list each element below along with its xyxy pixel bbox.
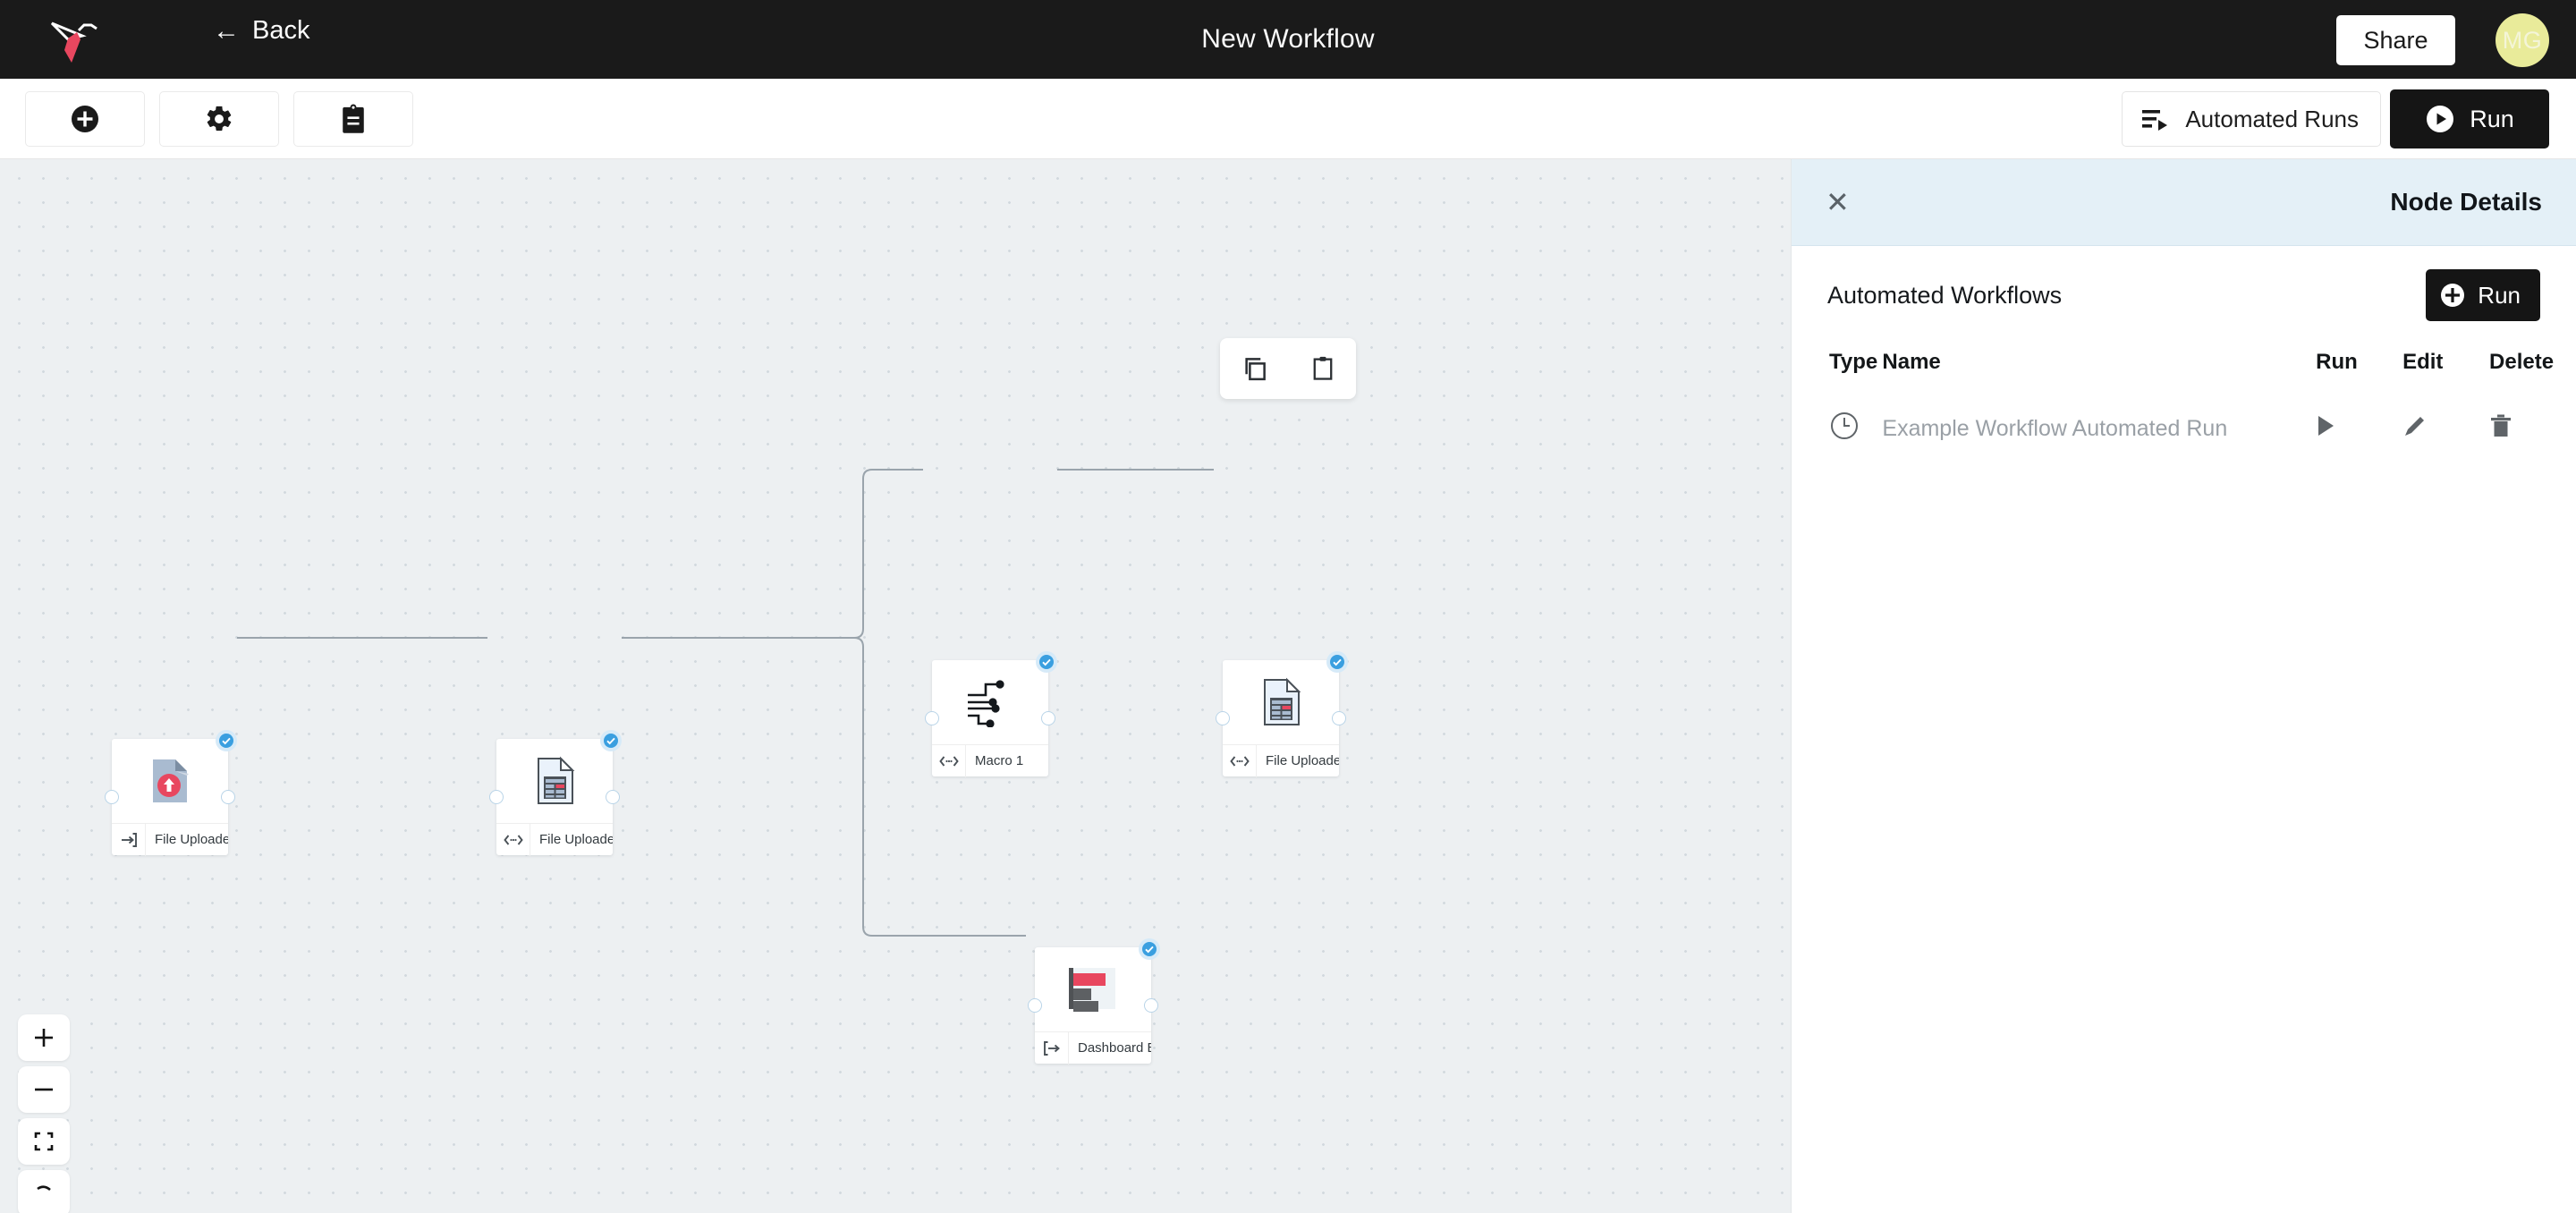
run-button[interactable]: Run <box>2390 89 2549 148</box>
row-delete-button[interactable] <box>2489 398 2576 460</box>
trash-icon <box>2489 413 2512 438</box>
node-output-port[interactable] <box>221 790 235 804</box>
connection-edges <box>0 159 1791 1213</box>
reset-icon <box>33 1183 55 1204</box>
fit-to-screen-button[interactable] <box>18 1118 70 1165</box>
copy-icon[interactable] <box>1241 355 1268 382</box>
node-label-text: File Uploader 1 <box>530 832 613 847</box>
minus-icon <box>32 1078 55 1101</box>
zoom-out-button[interactable] <box>18 1066 70 1113</box>
back-label: Back <box>252 16 309 46</box>
play-icon <box>2316 414 2335 437</box>
panel-title: Node Details <box>2390 188 2542 216</box>
node-status-badge <box>1036 651 1057 673</box>
node-label-text: Dashboard Builder 1 <box>1069 1040 1151 1056</box>
back-arrow-icon: ← <box>213 18 240 45</box>
settings-button[interactable] <box>159 91 279 147</box>
panel-section-header: Automated Workflows Run <box>1792 246 2576 344</box>
automated-workflows-table: Type Name Run Edit Delete Example Workfl <box>1792 344 2576 460</box>
node-label-text: File Uploader 1 (main macro ... <box>1257 753 1339 768</box>
clipboard-bar <box>1220 338 1356 399</box>
automated-runs-label: Automated Runs <box>2185 106 2359 133</box>
table-header-row: Type Name Run Edit Delete <box>1792 344 2576 398</box>
column-header-type: Type <box>1792 344 1882 398</box>
node-label-text: Macro 1 <box>966 753 1023 768</box>
bar-chart-icon <box>1067 966 1119 1013</box>
zoom-controls <box>18 1014 70 1213</box>
node-output-port[interactable] <box>1041 711 1055 725</box>
node-input-port[interactable] <box>1216 711 1230 725</box>
plus-circle-icon <box>70 104 100 134</box>
top-bar: ← Back New Workflow Share MG <box>0 0 2576 79</box>
node-label: File Uploader 1 <box>112 823 228 855</box>
workflow-canvas[interactable]: File Uploader 1 <box>0 159 1791 1213</box>
row-run-button[interactable] <box>2316 398 2402 460</box>
plus-icon <box>32 1026 55 1049</box>
node-input-port[interactable] <box>489 790 504 804</box>
node-label: File Uploader 1 (main macro ... <box>1223 744 1339 776</box>
macro-brackets-icon <box>932 745 966 777</box>
table-row[interactable]: Example Workflow Automated Run <box>1792 398 2576 460</box>
macro-brackets-icon <box>1223 745 1257 777</box>
share-label: Share <box>2363 27 2428 55</box>
gear-icon <box>204 104 234 134</box>
node-status-badge <box>600 730 622 751</box>
zoom-in-button[interactable] <box>18 1014 70 1061</box>
paste-icon[interactable] <box>1310 355 1335 382</box>
node-file-uploader-main-macro[interactable]: File Uploader 1 (main macro ... <box>1223 660 1339 776</box>
panel-header: ✕ Node Details <box>1792 159 2576 246</box>
row-edit-button[interactable] <box>2402 398 2489 460</box>
node-input-port[interactable] <box>1028 998 1042 1013</box>
macro-circuit-icon <box>964 677 1016 727</box>
avatar-initials: MG <box>2503 27 2543 55</box>
column-header-edit: Edit <box>2402 344 2489 398</box>
row-type-icon-cell <box>1792 398 1882 460</box>
close-icon[interactable]: ✕ <box>1826 188 1850 216</box>
node-macro-1[interactable]: Macro 1 <box>932 660 1048 776</box>
node-details-panel: ✕ Node Details Automated Workflows Run T… <box>1791 159 2576 1213</box>
output-arrow-icon <box>1035 1032 1069 1065</box>
node-icon-bar-chart <box>1035 947 1151 1031</box>
node-dashboard-builder-1[interactable]: Dashboard Builder 1 <box>1035 947 1151 1064</box>
clipboard-icon <box>339 104 368 134</box>
file-table-icon <box>531 756 578 806</box>
automated-runs-button[interactable]: Automated Runs <box>2122 91 2381 147</box>
plus-circle-icon <box>2438 281 2467 310</box>
node-output-port[interactable] <box>606 790 620 804</box>
row-name: Example Workflow Automated Run <box>1882 398 2316 460</box>
column-header-delete: Delete <box>2489 344 2576 398</box>
node-output-port[interactable] <box>1144 998 1158 1013</box>
add-node-button[interactable] <box>25 91 145 147</box>
node-output-port[interactable] <box>1332 711 1346 725</box>
node-file-uploader-1-b[interactable]: File Uploader 1 <box>496 739 613 855</box>
clock-icon <box>1829 411 1860 441</box>
node-file-uploader-1[interactable]: File Uploader 1 <box>112 739 228 855</box>
node-label: Macro 1 <box>932 744 1048 776</box>
node-icon-file-table <box>1223 660 1339 744</box>
page-title: New Workflow <box>0 0 2576 79</box>
node-label-text: File Uploader 1 <box>146 832 228 847</box>
node-label: File Uploader 1 <box>496 823 613 855</box>
share-button[interactable]: Share <box>2336 15 2455 65</box>
node-input-port[interactable] <box>105 790 119 804</box>
panel-run-label: Run <box>2478 282 2521 310</box>
node-status-badge <box>1326 651 1348 673</box>
clipboard-button[interactable] <box>293 91 413 147</box>
macro-brackets-icon <box>496 824 530 856</box>
column-header-run: Run <box>2316 344 2402 398</box>
play-circle-icon <box>2425 104 2455 134</box>
hummingbird-logo[interactable] <box>47 13 102 66</box>
list-play-icon <box>2140 106 2171 131</box>
node-status-badge <box>216 730 237 751</box>
column-header-name: Name <box>1882 344 2316 398</box>
toolbar: Automated Runs Run <box>0 79 2576 159</box>
reset-view-button[interactable] <box>18 1170 70 1213</box>
input-arrow-icon <box>112 824 146 856</box>
node-icon-macro <box>932 660 1048 744</box>
run-label: Run <box>2470 106 2514 133</box>
file-table-icon <box>1258 677 1304 727</box>
section-title: Automated Workflows <box>1827 282 2062 310</box>
node-input-port[interactable] <box>925 711 939 725</box>
node-label: Dashboard Builder 1 <box>1035 1031 1151 1064</box>
file-upload-icon <box>148 756 192 806</box>
panel-run-button[interactable]: Run <box>2426 269 2540 321</box>
fullscreen-icon <box>33 1131 55 1152</box>
pencil-icon <box>2402 413 2428 438</box>
back-button[interactable]: ← Back <box>213 16 309 46</box>
node-status-badge <box>1139 938 1160 960</box>
node-icon-file-table <box>496 739 613 823</box>
avatar[interactable]: MG <box>2495 13 2549 67</box>
node-icon-file-upload <box>112 739 228 823</box>
